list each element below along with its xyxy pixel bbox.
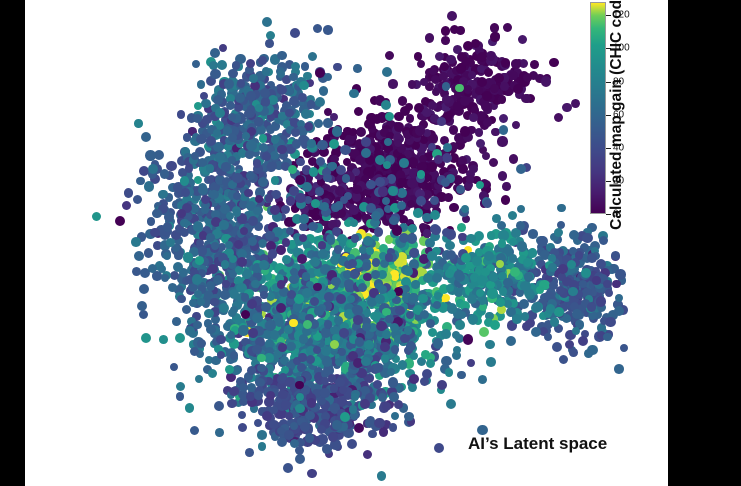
scatter-point [415,125,425,135]
scatter-point [197,80,206,89]
scatter-point [332,227,341,236]
scatter-point [299,334,309,344]
scatter-point [518,35,527,44]
scatter-point [485,340,495,350]
scatter-point [417,60,425,68]
scatter-point [368,430,377,439]
scatter-point [379,427,389,437]
scatter-point [284,430,294,440]
scatter-point [139,310,148,319]
scatter-point [202,115,212,125]
scatter-point [605,289,613,297]
scatter-point [569,348,578,357]
scatter-point [501,58,511,68]
scatter-point [383,161,391,169]
scatter-point [281,400,291,410]
plot-canvas: 020406080100120 Calculated map gain (CHI… [25,0,668,486]
scatter-point [358,283,367,292]
scatter-point [166,161,176,171]
scatter-point [496,260,504,268]
scatter-point [521,94,530,103]
scatter-point [316,157,325,166]
scatter-point [192,60,200,68]
scatter-point [193,321,202,330]
scatter-point [511,59,520,68]
scatter-point [183,252,193,262]
scatter-point [194,102,202,110]
scatter-point [391,345,399,353]
latent-space-caption: AI’s Latent space [468,434,607,454]
scatter-point [508,211,518,221]
scatter-point [430,196,439,205]
scatter-point [237,79,245,87]
scatter-point [502,182,511,191]
scatter-point [307,100,315,108]
scatter-point [468,314,478,324]
scatter-point [603,333,612,342]
scatter-point [296,158,305,167]
scatter-point [443,143,452,152]
scatter-point [283,463,293,473]
scatter-point [229,387,238,396]
scatter-point [447,11,457,21]
scatter-point [351,393,359,401]
scatter-point [310,297,319,306]
scatter-point [389,392,399,402]
scatter-point [177,295,185,303]
scatter-point [339,386,347,394]
scatter-point [139,284,149,294]
scatter-point [477,275,487,285]
scatter-point [206,164,214,172]
scatter-point [292,139,302,149]
scatter-point [483,199,492,208]
scatter-point [445,269,454,278]
scatter-point [409,374,419,384]
scatter-point [398,360,407,369]
scatter-point [302,272,310,280]
scatter-point [477,77,487,87]
scatter-point [348,259,357,268]
scatter-point [277,280,285,288]
scatter-point [552,342,562,352]
scatter-point [277,85,287,95]
scatter-point [372,258,380,266]
scatter-point [92,212,101,221]
scatter-point [314,306,324,316]
scatter-point [432,273,442,283]
scatter-point [182,305,191,314]
scatter-point [554,228,563,237]
scatter-point [161,274,169,282]
scatter-point [295,454,305,464]
scatter-point [134,251,144,261]
scatter-point [281,205,291,215]
scatter-point [279,373,287,381]
scatter-point [378,186,388,196]
scatter-point [238,325,248,335]
scatter-point [183,133,191,141]
scatter-point [131,237,141,247]
scatter-point [308,222,317,231]
scatter-point [571,99,580,108]
scatter-point [458,233,466,241]
scatter-point [362,262,371,271]
scatter-point [517,241,527,251]
scatter-point [445,241,454,250]
scatter-point [277,51,287,61]
colorbar-gradient [590,2,606,214]
colorbar: 020406080100120 [590,2,606,214]
scatter-point [219,44,227,52]
scatter-point [246,140,256,150]
scatter-point [503,278,512,287]
scatter-point [506,336,516,346]
scatter-point [420,78,428,86]
scatter-point [582,233,592,243]
scatter-point [265,231,274,240]
scatter-point [303,320,312,329]
scatter-point [276,245,286,255]
scatter-point [456,26,464,34]
scatter-point [381,354,390,363]
scatter-point [259,134,267,142]
scatter-point [478,375,487,384]
scatter-point [356,127,366,137]
scatter-point [442,82,451,91]
scatter-point [277,145,286,154]
scatter-point [513,84,523,94]
scatter-point [349,89,358,98]
scatter-point [217,351,225,359]
scatter-point [308,52,318,62]
scatter-point [446,399,456,409]
scatter-point [531,327,541,337]
scatter-point [347,439,357,449]
scatter-point [175,333,185,343]
scatter-point [453,346,461,354]
scatter-point [476,181,484,189]
scatter-point [282,238,290,246]
scatter-point [537,236,547,246]
scatter-point [270,205,280,215]
scatter-point [499,114,508,123]
scatter-point [385,315,394,324]
scatter-point [408,383,417,392]
scatter-point [612,280,621,289]
scatter-point [201,99,210,108]
scatter-point [229,255,237,263]
scatter-point [303,72,312,81]
scatter-point [307,139,316,148]
scatter-point [458,164,468,174]
scatter-point [320,202,329,211]
scatter-point [262,17,272,27]
scatter-point [286,342,296,352]
scatter-point [433,338,443,348]
scatter-point [134,119,142,127]
scatter-point [406,114,414,122]
scatter-point [301,62,310,71]
scatter-point [562,103,572,113]
scatter-point [388,79,397,88]
scatter-point [252,313,262,323]
scatter-point [549,58,558,67]
scatter-point [544,333,552,341]
scatter-point [546,304,556,314]
scatter-point [387,368,396,377]
scatter-point [350,270,359,279]
colorbar-title: Calculated map gain (CHIC code) [608,0,626,230]
scatter-point [331,277,341,287]
scatter-point [333,63,341,71]
scatter-point [489,272,499,282]
scatter-point [258,442,267,451]
scatter-point [457,223,466,232]
scatter-point [270,330,279,339]
scatter-point [572,327,580,335]
scatter-point [406,341,416,351]
scatter-point [324,320,332,328]
scatter-point [384,138,392,146]
scatter-point [496,298,505,307]
scatter-point [299,214,309,224]
scatter-point [285,412,293,420]
scatter-point [144,248,154,258]
scatter-point [374,418,384,428]
scatter-point [520,281,530,291]
scatter-point [230,351,238,359]
scatter-point [437,380,447,390]
scatter-point [197,339,206,348]
scatter-point [163,222,172,231]
scatter-point [258,56,267,65]
scatter-point [469,165,478,174]
scatter-point [460,126,470,136]
scatter-point [196,134,206,144]
scatter-point [385,51,394,60]
scatter-point [567,260,576,269]
scatter-point [246,171,254,179]
scatter-point [176,382,185,391]
scatter-point [490,320,500,330]
scatter-point [271,176,280,185]
scatter-point [439,72,448,81]
scatter-point [550,317,559,326]
scatter-point [519,299,529,309]
scatter-point [206,325,216,335]
scatter-point [409,248,419,258]
scatter-point [349,205,359,215]
scatter-point [299,81,309,91]
scatter-point [257,364,266,373]
scatter-point [486,357,496,367]
scatter-point [353,315,362,324]
scatter-point [221,162,230,171]
scatter-point [290,422,298,430]
scatter-point [394,122,404,132]
scatter-point [289,319,298,328]
scatter-point [444,193,453,202]
scatter-point [457,371,465,379]
scatter-point [497,136,507,146]
scatter-point [262,67,271,76]
scatter-point [381,100,391,110]
scatter-point [305,433,314,442]
scatter-point [463,334,473,344]
scatter-point [411,280,420,289]
scatter-point [549,281,558,290]
scatter-point [377,471,386,480]
scatter-point [206,136,216,146]
scatter-point [498,95,507,104]
scatter-point [382,330,391,339]
scatter-point [181,188,190,197]
scatter-point [559,355,568,364]
scatter-point [441,329,451,339]
scatter-point [150,228,160,238]
scatter-point [489,158,499,168]
scatter-point [487,288,497,298]
scatter-point [163,252,172,261]
scatter-point [315,187,324,196]
scatter-point [445,368,454,377]
scatter-point [195,256,204,265]
scatter-point [442,228,451,237]
scatter-point [226,101,235,110]
scatter-point [472,256,482,266]
scatter-point [578,336,588,346]
scatter-point [490,32,499,41]
scatter-point [476,289,484,297]
scatter-point [141,132,151,142]
scatter-point [198,158,207,167]
scatter-point [441,178,450,187]
scatter-point [389,216,399,226]
scatter-point [490,23,499,32]
scatter-point [375,177,385,187]
scatter-point [530,60,539,69]
scatter-point [522,322,531,331]
scatter-point [228,69,237,78]
scatter-point [587,253,597,263]
scatter-point [516,164,526,174]
scatter-point [170,271,179,280]
scatter-point [426,359,435,368]
scatter-point [354,423,364,433]
scatter-point [124,188,134,198]
scatter-point [449,203,458,212]
scatter-point [599,236,608,245]
scatter-point [258,177,268,187]
scatter-point [122,201,131,210]
scatter-point [330,384,339,393]
scatter-point [421,350,430,359]
scatter-point [581,268,591,278]
scatter-point [190,426,199,435]
scatter-point [180,219,188,227]
scatter-point [185,403,195,413]
scatter-point [174,252,182,260]
scatter-point [170,363,178,371]
scatter-point [217,60,227,70]
scatter-point [349,405,357,413]
scatter-point [417,170,425,178]
scatter-point [247,366,256,375]
scatter-point [298,353,306,361]
scatter-point [189,299,197,307]
scatter-point [307,469,316,478]
scatter-point [517,205,526,214]
scatter-point [605,317,615,327]
scatter-point [136,177,144,185]
scatter-point [299,234,307,242]
scatter-point [228,113,236,121]
scatter-point [382,67,392,77]
figure-root: 020406080100120 Calculated map gain (CHI… [0,0,741,486]
scatter-point [426,319,435,328]
scatter-point [361,148,371,158]
scatter-point [479,327,489,337]
scatter-point [323,25,333,35]
scatter-point [324,292,334,302]
scatter-point [579,280,587,288]
scatter-point [353,64,362,73]
scatter-point [319,86,329,96]
scatter-point [290,28,300,38]
scatter-point [395,306,404,315]
scatter-point [159,190,167,198]
scatter-point [420,377,429,386]
scatter-point [362,323,370,331]
scatter-point [592,276,600,284]
scatter-point [484,251,494,261]
scatter-point [463,41,473,51]
scatter-point [257,354,265,362]
scatter-point [289,275,298,284]
scatter-point [322,356,332,366]
scatter-point [339,328,349,338]
scatter-point [309,167,318,176]
scatter-point [512,121,520,129]
scatter-point [500,82,509,91]
scatter-point [241,293,250,302]
letterbox-bar-left [0,0,25,486]
scatter-point [220,290,230,300]
scatter-point [141,333,151,343]
scatter-point [340,145,350,155]
scatter-point [521,312,529,320]
scatter-point [455,320,464,329]
scatter-point [262,411,272,421]
scatter-point [172,317,181,326]
scatter-point [569,230,579,240]
scatter-point [548,263,557,272]
scatter-point [293,303,302,312]
scatter-point [363,450,372,459]
scatter-point [238,411,246,419]
scatter-point [404,267,413,276]
scatter-point [221,260,229,268]
scatter-point [378,285,387,294]
scatter-point [278,390,288,400]
scatter-point [195,375,203,383]
scatter-point [334,245,342,253]
scatter-point [351,234,360,243]
scatter-point [215,428,224,437]
scatter-point [201,205,209,213]
letterbox-bar-right [668,0,741,486]
